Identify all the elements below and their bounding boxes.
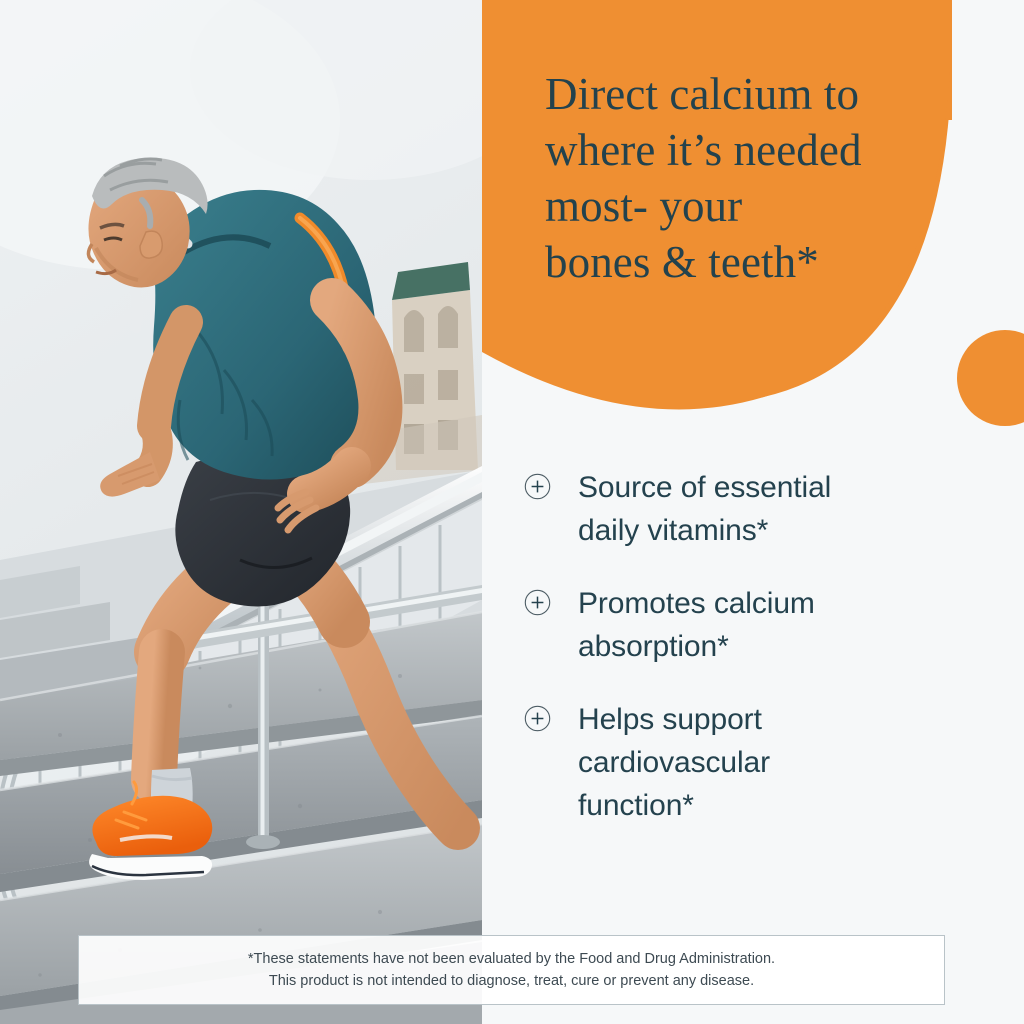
benefit-list: Source of essential daily vitamins* Prom…: [524, 466, 964, 827]
fda-disclaimer: *These statements have not been evaluate…: [78, 935, 945, 1005]
page-title: Direct calcium to where it’s needed most…: [545, 66, 975, 290]
list-item-label: Promotes calcium absorption*: [578, 582, 815, 668]
plus-circle-icon: [524, 589, 551, 616]
runner-photo: [0, 0, 482, 1024]
promo-graphic: Direct calcium to where it’s needed most…: [0, 0, 1024, 1024]
plus-circle-icon: [524, 473, 551, 500]
disclaimer-line-2: This product is not intended to diagnose…: [269, 970, 754, 992]
list-item-label: Source of essential daily vitamins*: [578, 466, 831, 552]
list-item: Helps support cardiovascular function*: [524, 698, 964, 827]
list-item: Source of essential daily vitamins*: [524, 466, 964, 552]
disclaimer-line-1: *These statements have not been evaluate…: [248, 948, 775, 970]
plus-circle-icon: [524, 705, 551, 732]
list-item: Promotes calcium absorption*: [524, 582, 964, 668]
list-item-label: Helps support cardiovascular function*: [578, 698, 770, 827]
